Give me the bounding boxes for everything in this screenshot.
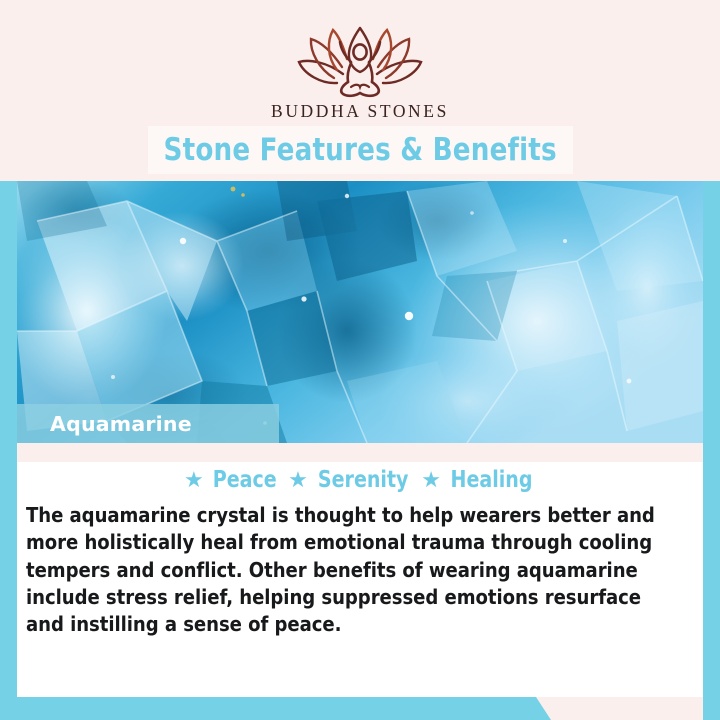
keyword-label: Serenity: [318, 467, 409, 493]
body-panel: ★ Peace ★ Serenity ★ Healing The aquamar…: [17, 462, 703, 697]
poster-canvas: BUDDHA STONES Stone Features & Benefits: [0, 0, 720, 720]
brand-logo-block: BUDDHA STONES: [230, 26, 490, 122]
stone-label-band: Aquamarine: [17, 404, 279, 443]
cream-separator-strip: [17, 443, 703, 462]
star-icon: ★: [184, 469, 204, 491]
keyword-item-serenity: ★ Serenity: [288, 467, 412, 493]
keyword-label: Healing: [451, 467, 533, 493]
brand-name: BUDDHA STONES: [230, 101, 490, 122]
star-icon: ★: [288, 469, 308, 491]
keyword-item-peace: ★ Peace: [184, 467, 279, 493]
keyword-list: ★ Peace ★ Serenity ★ Healing: [17, 462, 703, 493]
header-section: BUDDHA STONES Stone Features & Benefits: [0, 0, 720, 181]
decor-band-left: [0, 176, 17, 720]
keyword-label: Peace: [212, 467, 276, 493]
star-icon: ★: [421, 469, 441, 491]
page-title: Stone Features & Benefits: [164, 132, 557, 168]
title-banner: Stone Features & Benefits: [148, 126, 573, 174]
decor-band-bottom: [0, 697, 720, 720]
stone-name: Aquamarine: [50, 412, 192, 436]
stone-description: The aquamarine crystal is thought to hel…: [26, 502, 684, 639]
keyword-item-healing: ★ Healing: [421, 467, 536, 493]
lotus-meditation-icon: [285, 26, 435, 98]
